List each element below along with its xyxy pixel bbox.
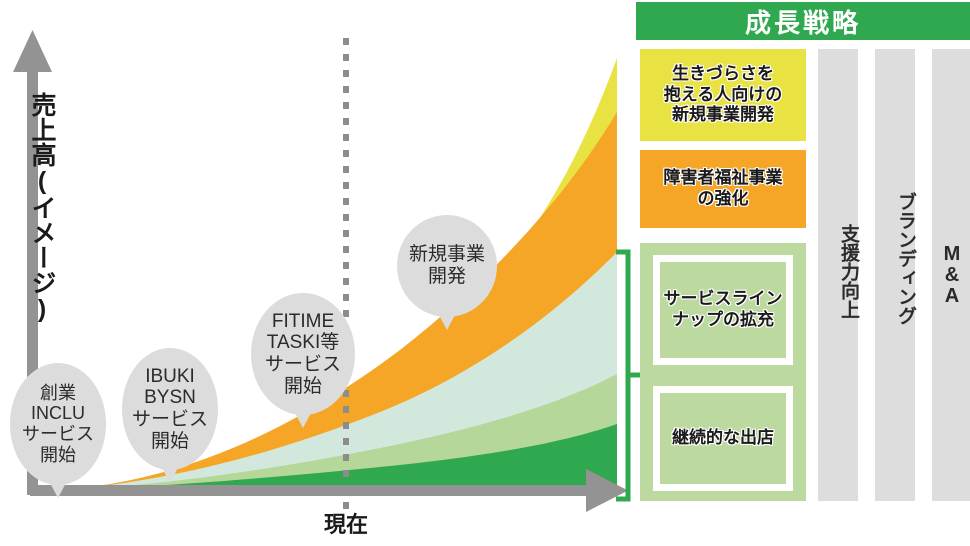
strategy-box-service-lineup[interactable]: サービスラインナップの拡充 [653, 255, 793, 365]
strategy-box-continuous-stores[interactable]: 継続的な出店 [653, 386, 793, 491]
strategy-pillar-label: ブランディング [875, 192, 915, 325]
y-axis-label: 売上高(イメージ) [6, 92, 54, 323]
growth-strategy-diagram: 売上高(イメージ) 現在 創業INCLUサービス開始 IBUKIBYSNサービス… [0, 0, 970, 546]
milestone-label: 創業INCLUサービス開始 [10, 383, 106, 465]
strategy-pillar-branding[interactable]: ブランディング [875, 49, 915, 501]
milestone-bubble-fitime[interactable]: FITIMETASKI等サービス開始 [251, 293, 355, 415]
milestone-label: 新規事業開発 [397, 244, 497, 287]
milestone-bubble-new-business[interactable]: 新規事業開発 [397, 215, 497, 317]
strategy-group-core-business: サービスラインナップの拡充 継続的な出店 [640, 243, 806, 501]
strategy-box-welfare[interactable]: 障害者福祉事業の強化 [640, 150, 806, 228]
milestone-label: IBUKIBYSNサービス開始 [122, 366, 218, 453]
strategy-pillar-label: 支援力向上 [818, 224, 858, 319]
milestone-bubble-ibuki[interactable]: IBUKIBYSNサービス開始 [122, 348, 218, 470]
strategy-pillar-support[interactable]: 支援力向上 [818, 49, 858, 501]
strategy-header-title: 成長戦略 [636, 2, 970, 40]
now-marker-label: 現在 [306, 514, 386, 536]
revenue-area-chart: 売上高(イメージ) 現在 創業INCLUサービス開始 IBUKIBYSNサービス… [0, 0, 640, 546]
strategy-box-new-business[interactable]: 生きづらさを抱える人向けの新規事業開発 [640, 49, 806, 141]
milestone-label: FITIMETASKI等サービス開始 [251, 311, 355, 398]
milestone-bubble-founding[interactable]: 創業INCLUサービス開始 [10, 363, 106, 485]
strategy-pillar-ma[interactable]: M&A [932, 49, 970, 501]
strategy-panel: 成長戦略 生きづらさを抱える人向けの新規事業開発 障害者福祉事業の強化 サービス… [632, 0, 970, 546]
strategy-pillar-label: M&A [932, 244, 970, 307]
green-bracket [616, 252, 628, 499]
